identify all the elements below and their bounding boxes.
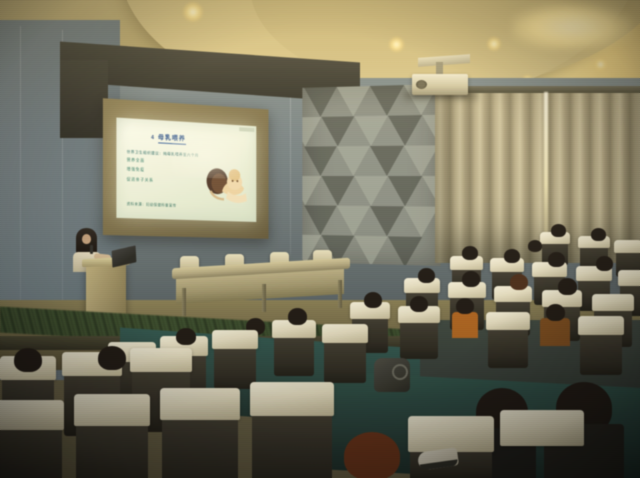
attendee-head <box>456 298 474 314</box>
attendee-head <box>528 240 542 252</box>
speaker-face <box>82 234 91 244</box>
projection-screen-frame: 4 母乳喂养 世界卫生组织建议：纯母乳喂养至六个月 营养全面 增强免疫 促进亲子… <box>103 98 269 239</box>
attendee-torso <box>540 318 570 346</box>
attendee-head <box>462 246 478 260</box>
attendee-head <box>462 271 480 287</box>
table-leg <box>262 284 266 312</box>
attendee-head <box>176 328 196 345</box>
attendee-head <box>288 308 307 325</box>
attendee-torso <box>452 312 478 338</box>
attendee-head <box>504 249 520 263</box>
attendee-head <box>418 268 435 283</box>
ceiling-bulkhead-return <box>60 60 108 138</box>
projection-screen-surface: 4 母乳喂养 世界卫生组织建议：纯母乳喂养至六个月 营养全面 增强免疫 促进亲子… <box>116 118 256 222</box>
acoustic-panel-wall <box>302 84 440 266</box>
downlight-icon <box>487 37 501 51</box>
microphone-icon <box>90 245 93 254</box>
attendee-head <box>510 274 528 290</box>
downlight-icon <box>594 58 607 71</box>
attendee-head <box>596 256 613 271</box>
projector-hotspot <box>172 131 240 179</box>
attendee-head <box>551 224 566 237</box>
cove-light-slit <box>512 4 632 50</box>
table-leg <box>182 288 186 316</box>
attendee-head <box>591 228 606 241</box>
backpack-strap <box>392 364 408 380</box>
table-leg <box>338 280 342 308</box>
attendee-head <box>364 292 382 308</box>
slide-footnote: 资料来源：妇幼保健科普宣传 <box>127 201 177 208</box>
attendee-head <box>98 346 126 370</box>
downlight-icon <box>183 2 203 22</box>
projector-lens <box>416 80 427 89</box>
auditorium-photograph: 4 母乳喂养 世界卫生组织建议：纯母乳喂养至六个月 营养全面 增强免疫 促进亲子… <box>0 0 640 478</box>
slide-number: 4 <box>151 134 154 140</box>
slide-corner-mark <box>239 127 254 132</box>
attendee-head <box>14 348 42 372</box>
attendee-head <box>548 252 565 267</box>
attendee-head-red-hair <box>344 432 400 478</box>
attendee-head <box>558 278 577 295</box>
attendee-head <box>410 296 428 312</box>
downlight-icon <box>389 37 404 52</box>
attendee-head <box>546 304 565 321</box>
